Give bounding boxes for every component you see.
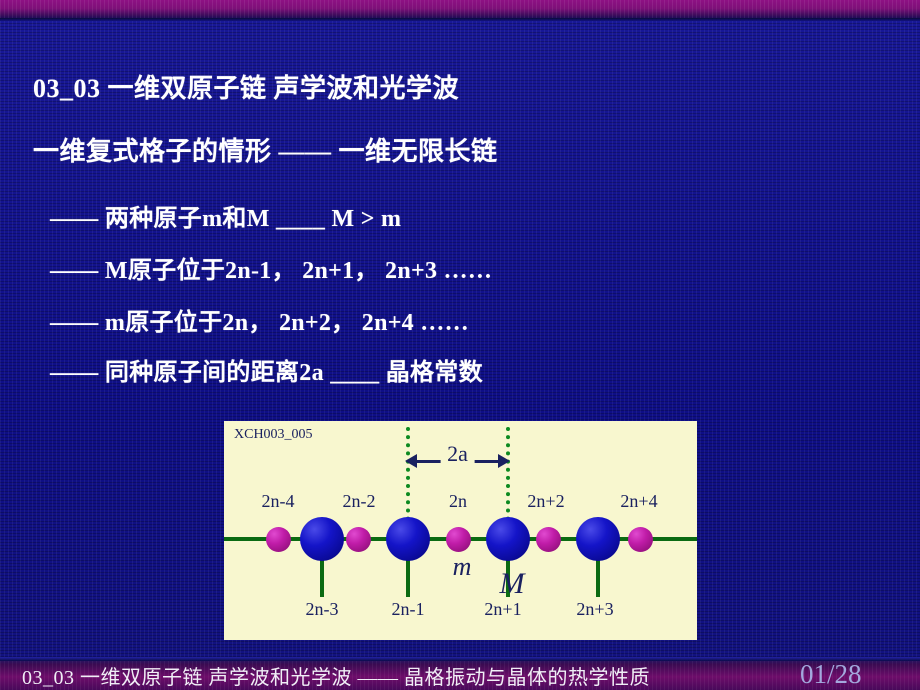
slide-content: 03_03 一维双原子链 声学波和光学波 一维复式格子的情形 —— 一维无限长链… xyxy=(0,0,920,655)
index-label-top-4: 2n+4 xyxy=(620,491,657,512)
index-label-bottom-3: 2n+3 xyxy=(576,599,613,620)
heavy-atom-2n-plus-1 xyxy=(486,517,530,561)
index-label-top-0: 2n-4 xyxy=(262,491,295,512)
index-label-bottom-2: 2n+1 xyxy=(484,599,521,620)
bullet-item-0: —— 两种原子m和M ____ M > m xyxy=(50,198,401,233)
diatomic-chain-figure: XCH003_005 2a xyxy=(224,421,697,640)
index-label-bottom-0: 2n-3 xyxy=(306,599,339,620)
page-title: 03_03 一维双原子链 声学波和光学波 xyxy=(33,68,459,105)
measure-label: 2a xyxy=(440,441,475,467)
index-label-bottom-1: 2n-1 xyxy=(392,599,425,620)
slide-subtitle: 一维复式格子的情形 —— 一维无限长链 xyxy=(33,131,498,168)
heavy-atom-2n-minus-1 xyxy=(386,517,430,561)
light-atom-2n-plus-2 xyxy=(536,527,561,552)
index-label-top-3: 2n+2 xyxy=(527,491,564,512)
footer-text: 03_03 一维双原子链 声学波和光学波 —— 晶格振动与晶体的热学性质 xyxy=(22,661,650,690)
light-atom-2n xyxy=(446,527,471,552)
light-atom-2n-minus-4 xyxy=(266,527,291,552)
page-number: 01/28 xyxy=(800,659,862,690)
mass-label-heavy: M xyxy=(500,567,525,601)
light-atom-2n-plus-4 xyxy=(628,527,653,552)
lattice-constant-measure: 2a xyxy=(408,449,507,471)
bullet-item-1: —— M原子位于2n-1， 2n+1， 2n+3 …… xyxy=(50,250,492,285)
heavy-atom-2n-minus-3 xyxy=(300,517,344,561)
arrow-right-icon xyxy=(498,454,510,468)
slide-footer: 03_03 一维双原子链 声学波和光学波 —— 晶格振动与晶体的热学性质 01/… xyxy=(0,657,920,690)
heavy-atom-2n-plus-3 xyxy=(576,517,620,561)
index-label-top-2: 2n xyxy=(449,491,467,512)
light-atom-2n-minus-2 xyxy=(346,527,371,552)
bullet-item-2: —— m原子位于2n， 2n+2， 2n+4 …… xyxy=(50,302,469,337)
bullet-item-3: —— 同种原子间的距离2a ____ 晶格常数 xyxy=(50,352,483,387)
index-label-top-1: 2n-2 xyxy=(343,491,376,512)
mass-label-light: m xyxy=(453,552,472,582)
slide-root: 03_03 一维双原子链 声学波和光学波 一维复式格子的情形 —— 一维无限长链… xyxy=(0,0,920,690)
arrow-left-icon xyxy=(405,454,417,468)
figure-caption: XCH003_005 xyxy=(234,427,313,443)
